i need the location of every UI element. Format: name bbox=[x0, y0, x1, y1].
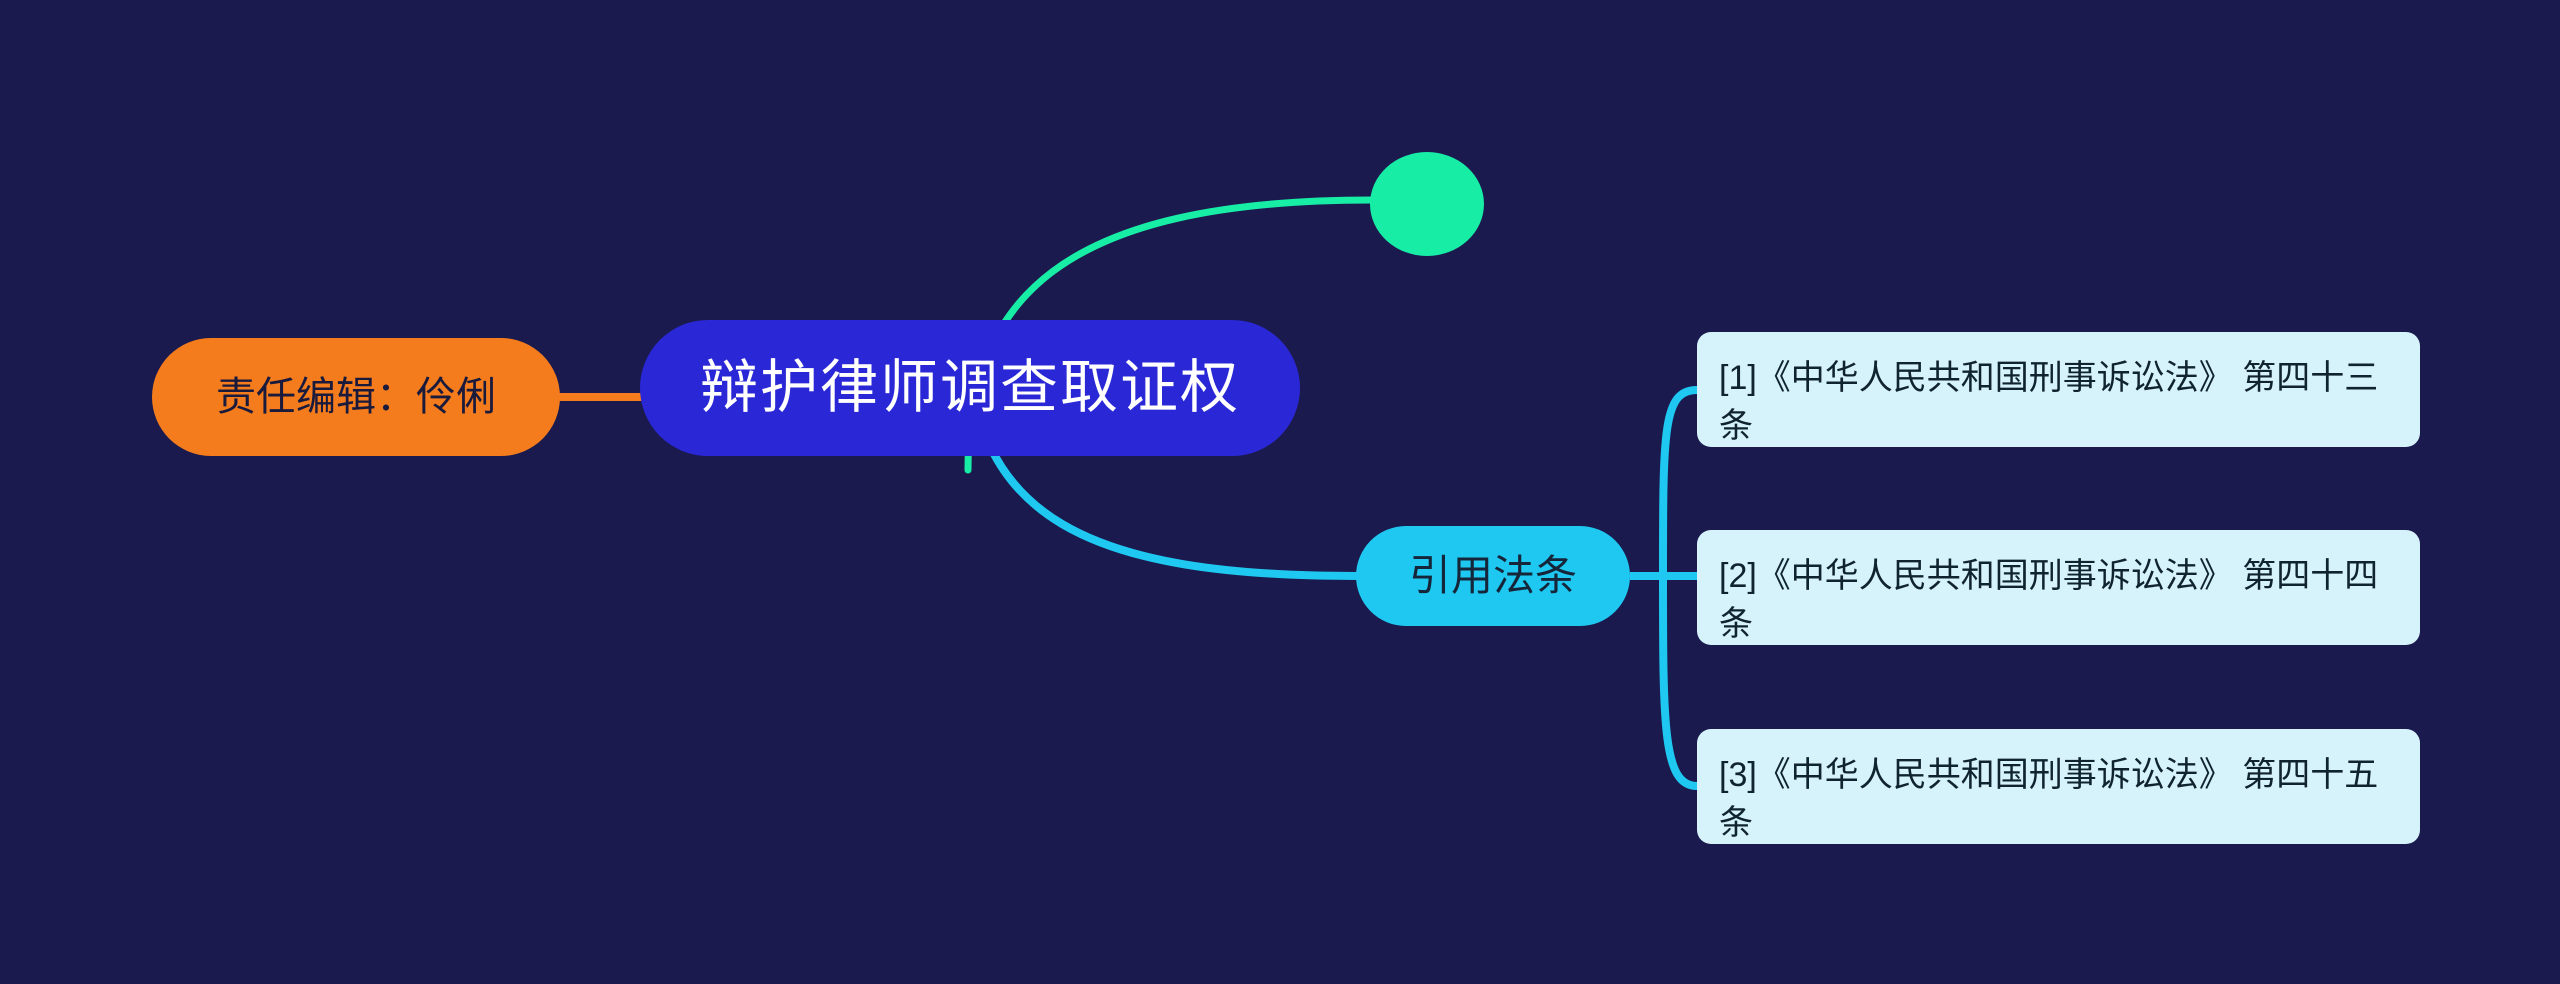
edge-citations-to-leaf-1 bbox=[1663, 390, 1697, 576]
mindmap-canvas: 责任编辑：伶俐 辩护律师调查取证权 引用法条 [1]《中华人民共和国刑事诉讼法》… bbox=[0, 0, 2560, 984]
citation-card-3[interactable]: [3]《中华人民共和国刑事诉讼法》 第四十五条 bbox=[1697, 729, 2420, 844]
editor-node-label: 责任编辑：伶俐 bbox=[216, 377, 496, 417]
citation-card-2[interactable]: [2]《中华人民共和国刑事诉讼法》 第四十四条 bbox=[1697, 530, 2420, 645]
citation-card-1-text: [1]《中华人民共和国刑事诉讼法》 第四十三条 bbox=[1719, 354, 2392, 451]
editor-node[interactable]: 责任编辑：伶俐 bbox=[152, 338, 560, 456]
citation-card-3-text: [3]《中华人民共和国刑事诉讼法》 第四十五条 bbox=[1719, 751, 2392, 848]
citations-node-label: 引用法条 bbox=[1409, 555, 1577, 597]
green-bubble-node[interactable] bbox=[1370, 152, 1484, 256]
citations-node[interactable]: 引用法条 bbox=[1356, 526, 1630, 626]
root-node[interactable]: 辩护律师调查取证权 bbox=[640, 320, 1300, 456]
citation-card-1[interactable]: [1]《中华人民共和国刑事诉讼法》 第四十三条 bbox=[1697, 332, 2420, 447]
edge-citations-to-leaf-3 bbox=[1663, 576, 1697, 786]
citation-card-2-text: [2]《中华人民共和国刑事诉讼法》 第四十四条 bbox=[1719, 552, 2392, 649]
root-node-label: 辩护律师调查取证权 bbox=[700, 359, 1240, 417]
